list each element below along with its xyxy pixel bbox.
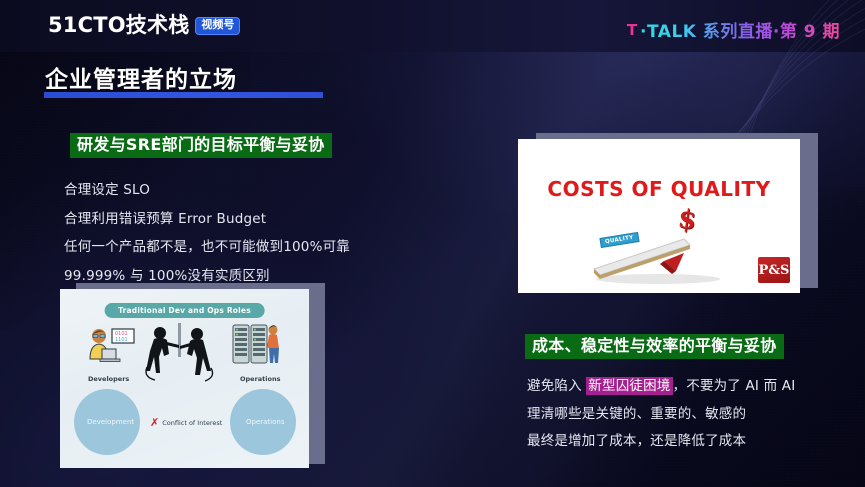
devops-image-title: Traditional Dev and Ops Roles: [104, 303, 265, 318]
operations-circle-label: Operations: [246, 418, 284, 426]
slide-canvas: 51CTO技术栈 视频号 T ·TALK 系列直播·第 9 期 企业管理者的立场…: [0, 0, 865, 487]
dollar-sign-icon: $: [676, 206, 698, 234]
title-underline-rule: [44, 92, 323, 98]
seesaw-balance-illustration-icon: [580, 217, 730, 285]
right-body-line-2: 理清哪些是关键的、重要的、敏感的: [527, 408, 795, 422]
right-body-line-1-prefix: 避免陷入: [527, 378, 586, 394]
conflict-of-interest: ✗ Conflict of Interest: [150, 417, 222, 428]
svg-text:1101: 1101: [115, 337, 128, 343]
left-body-line-3: 任何一个产品都不是，也不可能做到100%可靠: [64, 241, 350, 255]
conflict-of-interest-label: Conflict of Interest: [162, 419, 222, 427]
ps-logo: P&S: [758, 257, 790, 283]
right-body-line-1: 避免陷入 新型囚徒困境，不要为了 AI 而 AI: [527, 380, 795, 394]
devops-label-developers: Developers: [88, 375, 129, 383]
right-section-heading: 成本、稳定性与效率的平衡与妥协: [525, 334, 784, 359]
costs-of-quality-image: COSTS OF QUALITY QUALITY $ P&S: [518, 139, 800, 293]
left-body-line-1: 合理设定 SLO: [64, 184, 350, 198]
brand-badge: 视频号: [195, 17, 240, 35]
ttalk-series-logo: T ·TALK 系列直播·第 9 期: [627, 17, 840, 42]
right-body-highlight: 新型囚徒困境: [586, 377, 672, 395]
left-body-line-4: 99.999% 与 100%没有实质区别: [64, 270, 350, 284]
ttalk-mark-icon: T: [627, 21, 636, 39]
operations-servers-illustration-icon: [232, 323, 282, 369]
tug-of-war-illustration-icon: [145, 323, 215, 385]
devops-image: Traditional Dev and Ops Roles 0101 1101 …: [60, 289, 309, 468]
costs-of-quality-title: COSTS OF QUALITY: [547, 177, 770, 201]
conflict-x-icon: ✗: [150, 417, 159, 428]
page-title: 企业管理者的立场: [45, 60, 237, 94]
devops-label-operations: Operations: [240, 375, 280, 383]
developer-illustration-icon: 0101 1101: [86, 325, 142, 369]
right-body-line-1-suffix: ，不要为了 AI 而 AI: [673, 378, 796, 394]
ttalk-series-label: ·TALK 系列直播·第 9 期: [640, 17, 840, 42]
brand-logo: 51CTO技术栈 视频号: [48, 15, 240, 36]
costs-of-quality-image-frame: COSTS OF QUALITY QUALITY $ P&S: [518, 133, 818, 293]
left-section-heading: 研发与SRE部门的目标平衡与妥协: [70, 133, 332, 158]
devops-image-frame: Traditional Dev and Ops Roles 0101 1101 …: [60, 283, 325, 468]
left-body-line-2: 合理利用错误预算 Error Budget: [64, 213, 350, 227]
right-body-line-3: 最终是增加了成本，还是降低了成本: [527, 435, 795, 449]
left-section-body: 合理设定 SLO 合理利用错误预算 Error Budget 任何一个产品都不是…: [64, 184, 350, 298]
brand-name: 51CTO技术栈: [48, 15, 189, 36]
right-section-body: 避免陷入 新型囚徒困境，不要为了 AI 而 AI 理清哪些是关键的、重要的、敏感…: [527, 380, 795, 463]
development-circle-label: Development: [87, 418, 134, 426]
